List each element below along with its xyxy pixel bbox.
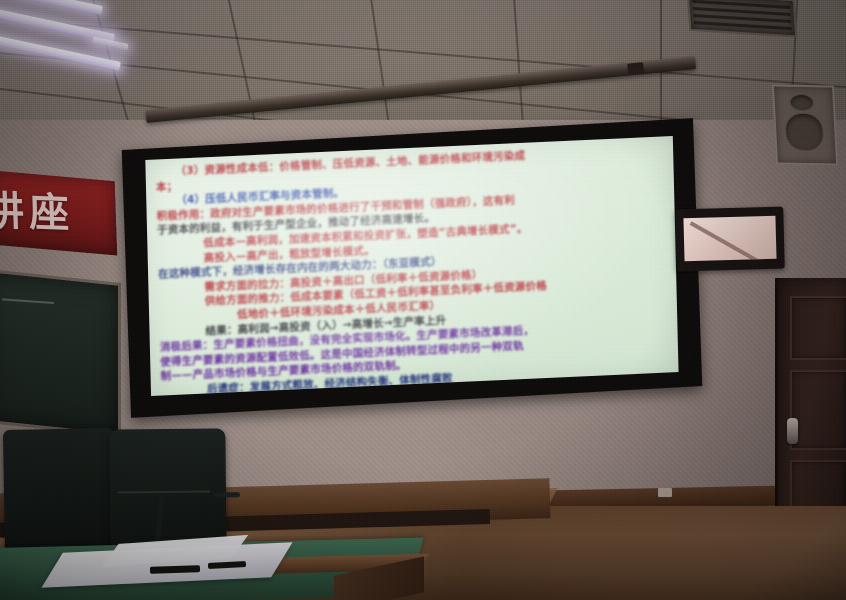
projection-screen: （3）资源性成本低：价格管制、压低资源、土地、能源价格和环境污染成 本； （4）… (122, 118, 703, 418)
blackboard (0, 269, 121, 437)
door-panel (790, 370, 846, 450)
red-banner: 讲座 (0, 171, 117, 256)
conference-chair[interactable] (3, 428, 117, 556)
room-door[interactable] (775, 278, 846, 528)
wall-monitor (675, 207, 785, 272)
slide-text-body: （3）资源性成本低：价格管制、压低资源、土地、能源价格和环境污染成 本； （4）… (145, 136, 678, 396)
wall-speaker-icon (772, 85, 838, 166)
door-handle[interactable] (787, 418, 798, 444)
roller-knob (627, 62, 644, 75)
speaker-woofer (784, 113, 824, 152)
monitor-screen (683, 216, 776, 261)
banner-text: 讲座 (0, 178, 75, 239)
chair-back-seam (118, 491, 210, 494)
door-panel (790, 296, 846, 360)
chalk-mark (2, 298, 54, 304)
speaker-tweeter (789, 94, 814, 111)
lecture-hall-photo: 讲座 （3）资源性成本低：价格管制、压低资源、土地、能源价格和环境污染成 本； … (0, 0, 846, 600)
wall-outlet-plate (658, 488, 672, 497)
projected-slide: （3）资源性成本低：价格管制、压低资源、土地、能源价格和环境污染成 本； （4）… (145, 136, 678, 396)
monitor-diagonal-line (690, 221, 775, 261)
chair-armrest (214, 492, 240, 497)
